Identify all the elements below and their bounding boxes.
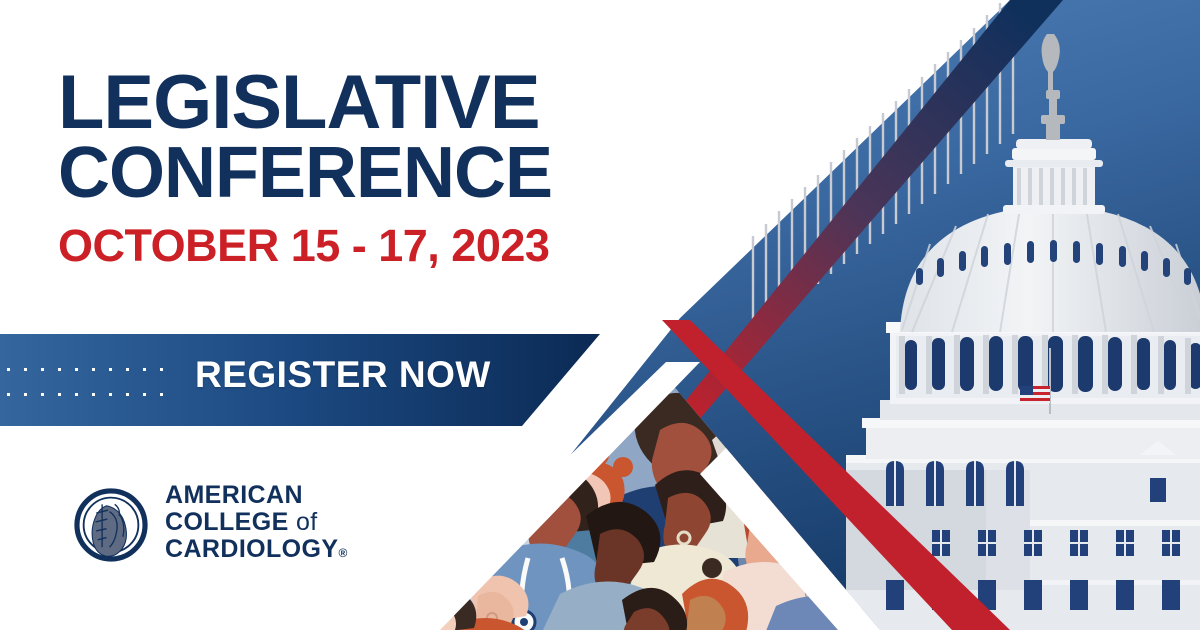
dot-grid-pattern	[0, 352, 172, 404]
logo-line-3: CARDIOLOGY®	[165, 536, 348, 567]
headline-line-2: CONFERENCE	[58, 138, 698, 208]
logo-line-1: AMERICAN	[165, 482, 348, 509]
headline-block: LEGISLATIVE CONFERENCE OCTOBER 15 - 17, …	[58, 68, 698, 270]
acc-logo-text: AMERICAN COLLEGE of CARDIOLOGY®	[165, 482, 348, 567]
register-now-label[interactable]: REGISTER NOW	[195, 354, 491, 396]
acc-logo: AMERICAN COLLEGE of CARDIOLOGY®	[74, 482, 348, 567]
promo-banner-canvas: LEGISLATIVE CONFERENCE OCTOBER 15 - 17, …	[0, 0, 1200, 630]
event-dates: OCTOBER 15 - 17, 2023	[58, 222, 698, 270]
logo-line-2: COLLEGE of	[165, 509, 348, 536]
headline-line-1: LEGISLATIVE	[58, 68, 698, 138]
acc-heart-emblem	[74, 488, 148, 562]
